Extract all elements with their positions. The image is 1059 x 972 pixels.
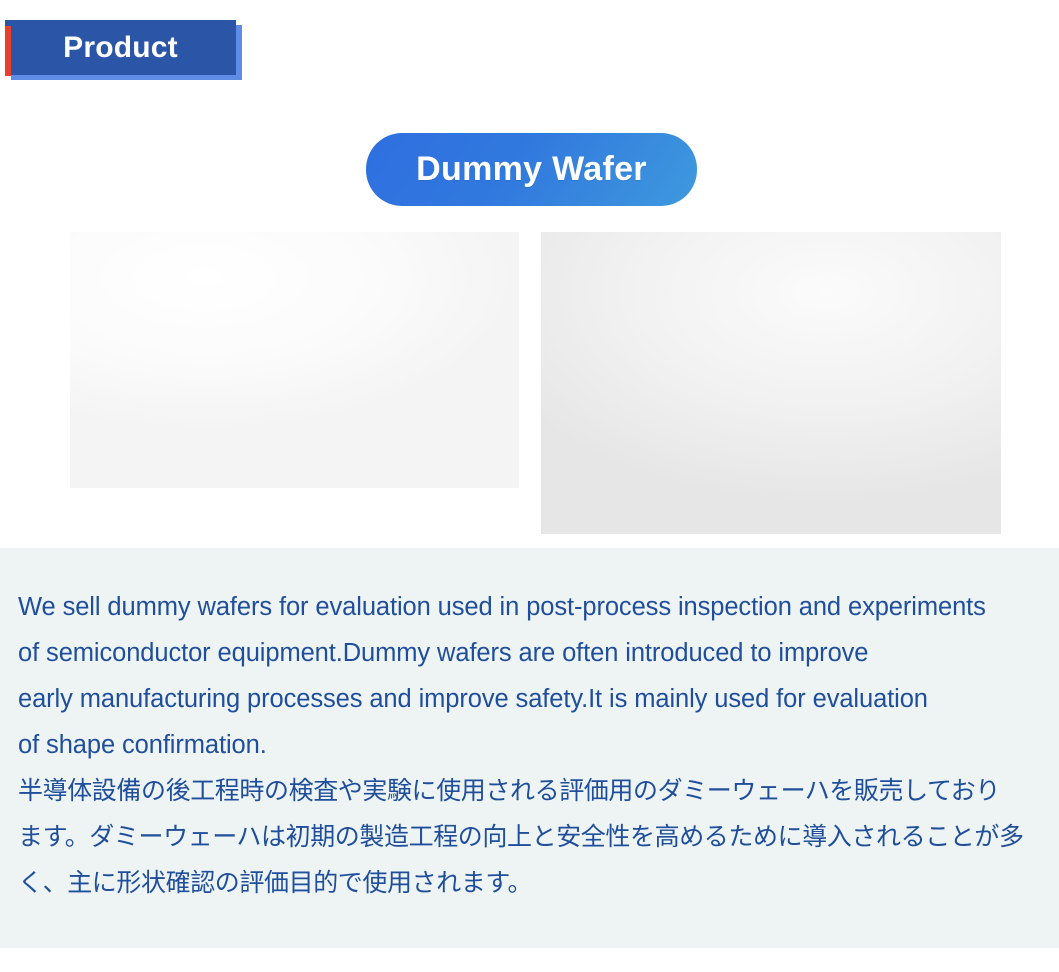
- description-line-jp-3: く、主に形状確認の評価目的で使用されます。: [18, 860, 1039, 906]
- product-description-panel: We sell dummy wafers for evaluation used…: [0, 548, 1059, 948]
- product-title-pill: Dummy Wafer: [366, 133, 697, 206]
- page-title: Product: [5, 20, 236, 75]
- description-line-en-3: early manufacturing processes and improv…: [18, 676, 1039, 722]
- description-line-jp-2: ます。ダミーウェーハは初期の製造工程の向上と安全性を高めるために導入されることが…: [18, 814, 1039, 860]
- description-line-en-4: of shape confirmation.: [18, 722, 1039, 768]
- page-header-badge: Product: [5, 20, 242, 80]
- description-line-en-1: We sell dummy wafers for evaluation used…: [18, 584, 1039, 630]
- product-photo-wafers: [70, 232, 519, 488]
- product-title-label: Dummy Wafer: [416, 150, 647, 189]
- product-photo-ingot: [541, 232, 1001, 534]
- description-line-en-2: of semiconductor equipment.Dummy wafers …: [18, 630, 1039, 676]
- description-line-jp-1: 半導体設備の後工程時の検査や実験に使用される評価用のダミーウェーハを販売しており: [18, 768, 1039, 814]
